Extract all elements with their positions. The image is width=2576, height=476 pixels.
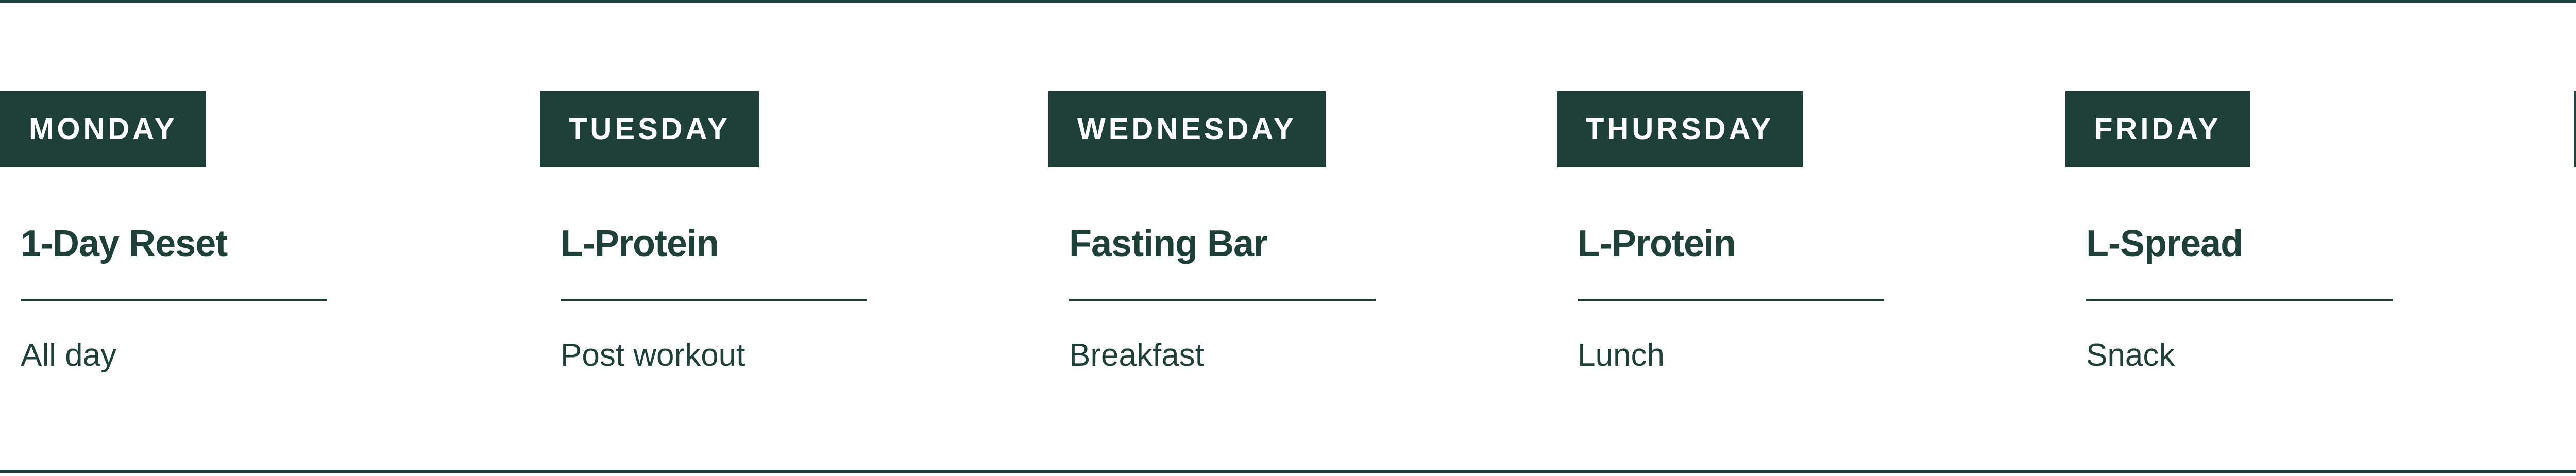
- product-title-wednesday: Fasting Bar: [1069, 219, 1533, 268]
- bottom-divider-rule: [0, 470, 2576, 473]
- day-column-inner: THURSDAY L-Protein Lunch: [1526, 0, 2034, 476]
- day-column-inner: TUESDAY L-Protein Post workout: [509, 0, 1017, 476]
- product-title-friday: L-Spread: [2086, 219, 2550, 268]
- meal-slot-tuesday: Post workout: [561, 334, 1024, 377]
- meal-slot-wednesday: Breakfast: [1069, 334, 1533, 377]
- day-badge-friday: FRIDAY: [2065, 91, 2250, 167]
- day-badge-thursday: THURSDAY: [1557, 91, 1803, 167]
- product-title-tuesday: L-Protein: [561, 219, 1024, 268]
- divider-wednesday: [1069, 299, 1376, 301]
- day-column-inner: SATURDAY Fasting Bar Breakfast: [2543, 0, 2576, 476]
- day-column-inner: WEDNESDAY Fasting Bar Breakfast: [1017, 0, 1526, 476]
- divider-friday: [2086, 299, 2393, 301]
- day-badge-tuesday: TUESDAY: [540, 91, 759, 167]
- day-column-inner: FRIDAY L-Spread Snack: [2034, 0, 2543, 476]
- product-title-monday: 1-Day Reset: [21, 219, 484, 268]
- weekly-schedule: MONDAY 1-Day Reset All day TUESDAY L-Pro…: [0, 0, 2576, 476]
- day-column-monday[interactable]: MONDAY 1-Day Reset All day: [0, 0, 509, 476]
- day-column-friday[interactable]: FRIDAY L-Spread Snack: [2034, 0, 2543, 476]
- day-column-tuesday[interactable]: TUESDAY L-Protein Post workout: [509, 0, 1017, 476]
- day-column-saturday[interactable]: SATURDAY Fasting Bar Breakfast: [2543, 0, 2576, 476]
- meal-slot-friday: Snack: [2086, 334, 2550, 377]
- day-badge-monday: MONDAY: [0, 91, 206, 167]
- divider-tuesday: [561, 299, 867, 301]
- day-column-inner: MONDAY 1-Day Reset All day: [0, 0, 509, 476]
- divider-thursday: [1578, 299, 1884, 301]
- day-badge-saturday: SATURDAY: [2574, 91, 2576, 167]
- day-column-thursday[interactable]: THURSDAY L-Protein Lunch: [1526, 0, 2034, 476]
- divider-monday: [21, 299, 327, 301]
- product-title-thursday: L-Protein: [1578, 219, 2041, 268]
- day-column-wednesday[interactable]: WEDNESDAY Fasting Bar Breakfast: [1017, 0, 1526, 476]
- meal-slot-thursday: Lunch: [1578, 334, 2041, 377]
- meal-slot-monday: All day: [21, 334, 484, 377]
- day-badge-wednesday: WEDNESDAY: [1048, 91, 1326, 167]
